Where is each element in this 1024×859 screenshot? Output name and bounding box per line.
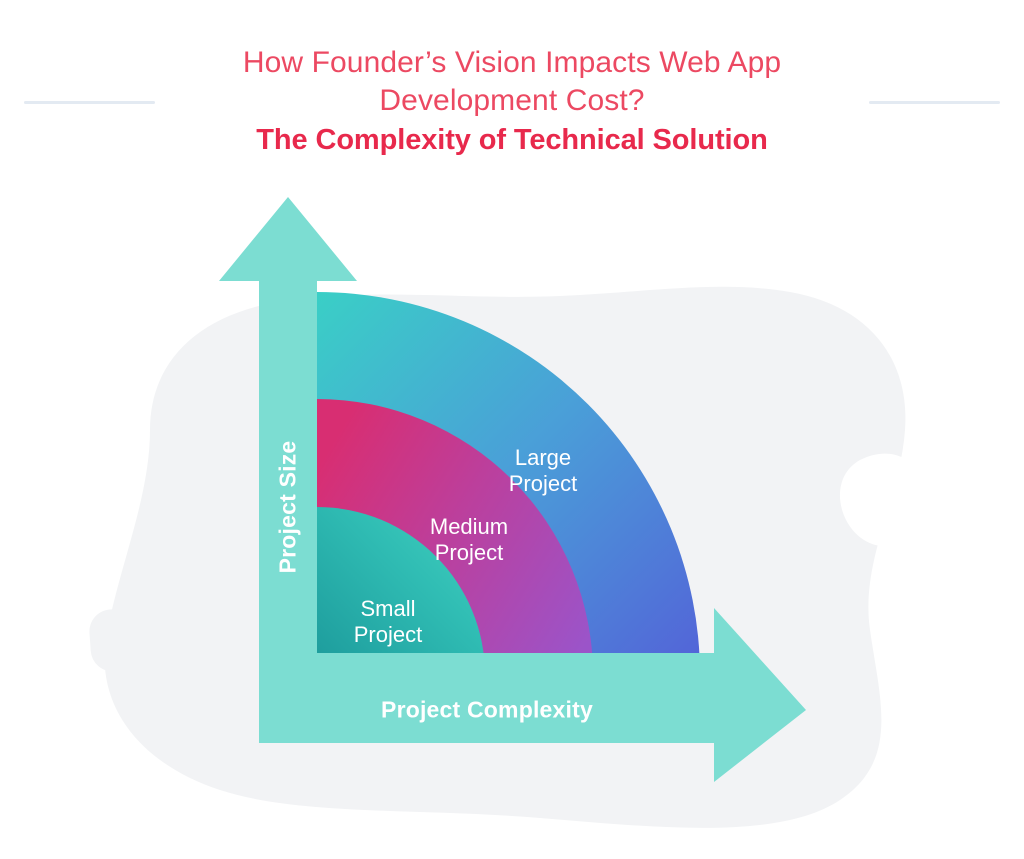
quadrant-chart [0, 0, 1024, 859]
arc-band-group [317, 292, 700, 675]
infographic-canvas: How Founder’s Vision Impacts Web App Dev… [0, 0, 1024, 859]
